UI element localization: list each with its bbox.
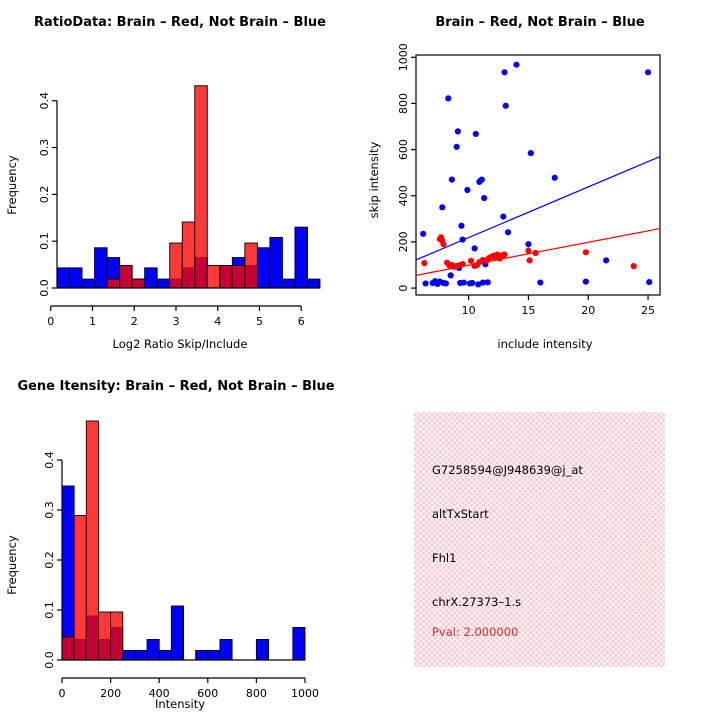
scatter-point xyxy=(420,231,426,237)
hist-bar xyxy=(282,279,295,288)
x-axis-tick-label: 4 xyxy=(214,315,221,328)
scatter-point xyxy=(525,241,531,247)
y-axis-tick-label: 0 xyxy=(397,285,410,292)
hist-bar xyxy=(111,612,123,660)
hist-bar xyxy=(220,266,233,288)
trend-line xyxy=(416,157,660,260)
hist-bar xyxy=(135,651,147,661)
scatter-plot-area: 0200400600800100010152025 xyxy=(397,43,660,317)
scatter-title: Brain – Red, Not Brain – Blue xyxy=(435,15,644,30)
scatter-point xyxy=(439,204,445,210)
scatter-point xyxy=(421,260,427,266)
x-axis-tick-label: 6 xyxy=(298,315,305,328)
info-event-type: altTxStart xyxy=(432,507,489,521)
scatter-point xyxy=(448,272,454,278)
panel-ratio-histogram: RatioData: Brain – Red, Not Brain – Blue… xyxy=(0,0,360,360)
info-probe-id: G7258594@J948639@j_at xyxy=(432,463,583,477)
y-axis-tick-label: 0.3 xyxy=(38,139,51,157)
scatter-point xyxy=(500,213,506,219)
scatter-point xyxy=(455,128,461,134)
y-axis-tick-label: 0.0 xyxy=(38,279,51,297)
hist-bar xyxy=(195,86,208,288)
scatter-xlabel: include intensity xyxy=(497,337,592,351)
scatter-svg: Brain – Red, Not Brain – Blue include in… xyxy=(360,0,720,360)
scatter-point xyxy=(646,279,652,285)
scatter-point xyxy=(631,263,637,269)
y-axis-tick-label: 600 xyxy=(397,139,410,160)
scatter-point xyxy=(645,69,651,75)
scatter-point xyxy=(460,237,466,243)
x-axis-tick-label: 1000 xyxy=(291,687,319,700)
hist-bar xyxy=(220,640,232,661)
y-axis-tick-label: 200 xyxy=(397,231,410,252)
y-axis-tick-label: 1000 xyxy=(397,43,410,71)
y-axis-tick-label: 0.1 xyxy=(43,601,56,619)
gene-histogram-svg: Gene Itensity: Brain – Red, Not Brain – … xyxy=(0,360,360,720)
hist-bar xyxy=(257,248,270,288)
hist-bar xyxy=(157,279,170,288)
x-axis-tick-label: 3 xyxy=(172,315,179,328)
scatter-point xyxy=(454,144,460,150)
hist-bar xyxy=(98,612,110,660)
hist-bar xyxy=(170,243,183,288)
gene-info-box: G7258594@J948639@j_at altTxStart Fhl1 ch… xyxy=(414,412,665,667)
hist-bar xyxy=(208,651,220,661)
plot-frame xyxy=(416,55,660,295)
ratio-histogram-xlabel: Log2 Ratio Skip/Include xyxy=(113,337,248,351)
y-axis-tick-label: 0.3 xyxy=(43,501,56,519)
hist-bar xyxy=(107,279,120,288)
ratio-histogram-svg: RatioData: Brain – Red, Not Brain – Blue… xyxy=(0,0,360,360)
hist-bar xyxy=(82,279,95,288)
scatter-point xyxy=(501,69,507,75)
hist-bar xyxy=(86,421,98,660)
scatter-point xyxy=(501,252,507,258)
ratio-histogram-ylabel: Frequency xyxy=(5,155,19,215)
scatter-ylabel: skip intensity xyxy=(367,141,381,218)
scatter-point xyxy=(528,150,534,156)
gene-histogram-ylabel: Frequency xyxy=(5,535,19,595)
panel-gene-info: G7258594@J948639@j_at altTxStart Fhl1 ch… xyxy=(360,360,720,720)
scatter-point xyxy=(481,195,487,201)
scatter-point xyxy=(552,175,558,181)
scatter-point xyxy=(458,223,464,229)
hist-bar xyxy=(62,637,74,660)
hist-bar xyxy=(232,266,245,288)
x-axis-tick-label: 10 xyxy=(462,304,476,317)
panel-intensity-scatter: Brain – Red, Not Brain – Blue include in… xyxy=(360,0,720,360)
y-axis-tick-label: 0.0 xyxy=(43,651,56,669)
hist-bar xyxy=(293,628,305,661)
hist-bar xyxy=(295,227,308,288)
scatter-point xyxy=(513,62,519,68)
scatter-point xyxy=(440,241,446,247)
x-axis-tick-label: 1 xyxy=(89,315,96,328)
gene-histogram-title: Gene Itensity: Brain – Red, Not Brain – … xyxy=(17,379,334,394)
scatter-point xyxy=(461,279,467,285)
scatter-point xyxy=(472,245,478,251)
x-axis-tick-label: 15 xyxy=(521,304,535,317)
hist-bar xyxy=(74,516,86,661)
scatter-point xyxy=(445,95,451,101)
x-axis-tick-label: 25 xyxy=(641,304,655,317)
y-axis-tick-label: 0.4 xyxy=(43,451,56,469)
hist-bar xyxy=(62,486,74,660)
scatter-point xyxy=(473,131,479,137)
x-axis-tick-label: 5 xyxy=(256,315,263,328)
x-axis-tick-label: 20 xyxy=(581,304,595,317)
panel-gene-intensity-histogram: Gene Itensity: Brain – Red, Not Brain – … xyxy=(0,360,360,720)
gene-histogram-plot-area: 0.00.10.20.30.402004006008001000 xyxy=(43,421,319,700)
scatter-point xyxy=(468,258,474,264)
y-axis-tick-label: 400 xyxy=(397,185,410,206)
hist-bar xyxy=(132,279,145,288)
x-axis-tick-label: 2 xyxy=(131,315,138,328)
scatter-point xyxy=(469,280,475,286)
scatter-point xyxy=(464,187,470,193)
y-axis-tick-label: 0.2 xyxy=(43,551,56,569)
y-axis-tick-label: 0.4 xyxy=(38,92,51,110)
scatter-point xyxy=(505,229,511,235)
scatter-point xyxy=(443,280,449,286)
scatter-point xyxy=(603,257,609,263)
scatter-point xyxy=(525,248,531,254)
x-axis-tick-label: 800 xyxy=(246,687,267,700)
info-locus: chrX.27373–1.s xyxy=(432,595,521,609)
hist-bar xyxy=(70,268,83,288)
x-axis-tick-label: 0 xyxy=(47,315,54,328)
x-axis-tick-label: 600 xyxy=(197,687,218,700)
info-pval: Pval: 2.000000 xyxy=(432,625,518,639)
hist-bar xyxy=(147,640,159,661)
y-axis-tick-label: 800 xyxy=(397,93,410,114)
x-axis-tick-label: 0 xyxy=(59,687,66,700)
scatter-point xyxy=(583,279,589,285)
scatter-point xyxy=(583,249,589,255)
scatter-point xyxy=(422,280,428,286)
y-axis-tick-label: 0.1 xyxy=(38,232,51,250)
scatter-point xyxy=(479,177,485,183)
scatter-point xyxy=(537,279,543,285)
hist-bar xyxy=(145,268,158,288)
hist-bar xyxy=(95,248,108,288)
hist-bar xyxy=(245,243,258,288)
info-gene-symbol: Fhl1 xyxy=(432,551,456,565)
scatter-point xyxy=(460,261,466,267)
hist-bar xyxy=(120,266,133,288)
scatter-point xyxy=(503,103,509,109)
ratio-histogram-title: RatioData: Brain – Red, Not Brain – Blue xyxy=(34,15,326,30)
hist-bar xyxy=(270,237,283,288)
scatter-point xyxy=(485,279,491,285)
hist-bar xyxy=(207,266,220,288)
figure-canvas: RatioData: Brain – Red, Not Brain – Blue… xyxy=(0,0,720,720)
scatter-point xyxy=(449,177,455,183)
x-axis-tick-label: 400 xyxy=(149,687,170,700)
hist-bar xyxy=(57,268,70,288)
y-axis-tick-label: 0.2 xyxy=(38,186,51,204)
hist-bar xyxy=(256,640,268,661)
scatter-point xyxy=(527,257,533,263)
hist-bar xyxy=(123,651,135,661)
hist-bar xyxy=(196,651,208,661)
ratio-histogram-plot-area: 0.00.10.20.30.40123456 xyxy=(38,86,320,328)
hist-bar xyxy=(182,222,195,288)
hist-bar xyxy=(171,606,183,660)
hist-bar xyxy=(159,651,171,661)
x-axis-tick-label: 200 xyxy=(100,687,121,700)
scatter-point xyxy=(533,250,539,256)
hist-bar xyxy=(307,279,320,288)
